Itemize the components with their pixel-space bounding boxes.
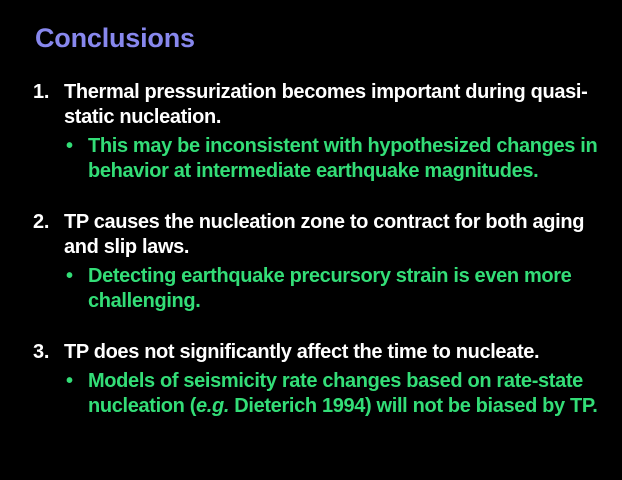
sub-bullet: • Models of seismicity rate changes base… <box>0 369 622 419</box>
bullet-dot-icon: • <box>66 264 73 289</box>
section-spacer <box>0 194 622 210</box>
page-title: Conclusions <box>35 24 195 52</box>
sub-bullet: • Detecting earthquake precursory strain… <box>0 264 622 314</box>
list-item-text: Thermal pressurization becomes important… <box>0 80 622 130</box>
conclusions-list: 1. Thermal pressurization becomes import… <box>0 80 622 429</box>
list-item-number: 2. <box>33 210 59 235</box>
sub-bullet-text-part-2: Dieterich 1994) will not be biased by TP… <box>229 395 597 417</box>
bullet-dot-icon: • <box>66 369 73 394</box>
sub-bullet: • This may be inconsistent with hypothes… <box>0 134 622 184</box>
list-item-number: 3. <box>33 340 59 365</box>
list-item-text: TP causes the nucleation zone to contrac… <box>0 210 622 260</box>
sub-bullet-emphasis: e.g. <box>196 395 229 417</box>
list-item-text: TP does not significantly affect the tim… <box>0 340 622 365</box>
sub-bullet-text: Models of seismicity rate changes based … <box>0 369 622 419</box>
bullet-dot-icon: • <box>66 134 73 159</box>
list-item-number: 1. <box>33 80 59 105</box>
sub-bullet-text: This may be inconsistent with hypothesiz… <box>0 134 622 184</box>
list-item: 2. TP causes the nucleation zone to cont… <box>0 210 622 314</box>
presentation-slide: Conclusions 1. Thermal pressurization be… <box>0 0 622 480</box>
sub-bullet-text: Detecting earthquake precursory strain i… <box>0 264 622 314</box>
list-item: 3. TP does not significantly affect the … <box>0 340 622 419</box>
list-item: 1. Thermal pressurization becomes import… <box>0 80 622 184</box>
section-spacer <box>0 324 622 340</box>
